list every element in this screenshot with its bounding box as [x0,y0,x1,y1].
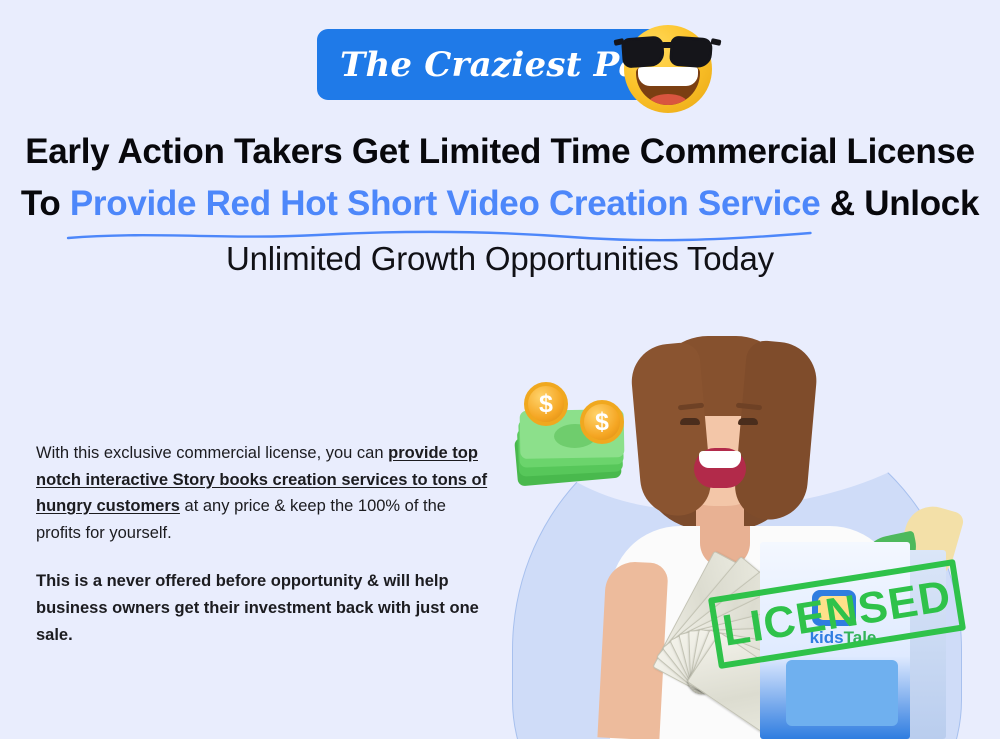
woman-eye-left [680,418,700,425]
craziest-part-badge: The Craziest Part... [0,29,1000,124]
headline-highlight-label: Provide Red Hot Short Video Creation Ser… [70,184,821,223]
hero-illustration: $ $ [500,330,1000,739]
headline-line-2-prefix: To [21,184,70,223]
emoji-sunglasses [616,33,720,69]
woman-teeth [699,451,741,468]
dollar-coin-icon: $ [524,382,568,426]
body-copy: With this exclusive commercial license, … [36,440,491,671]
wavy-underline-icon [64,229,815,243]
emoji-teeth [638,67,698,86]
paragraph-one-part-1: With this exclusive commercial license, … [36,444,388,462]
woman-hair-right [732,339,819,523]
headline-highlight-text: Provide Red Hot Short Video Creation Ser… [70,176,821,232]
headline-line-2: To Provide Red Hot Short Video Creation … [0,176,1000,232]
woman-eye-right [738,418,758,425]
product-box: kidsTale LICENSED [752,506,962,739]
emoji-tongue [648,94,688,105]
headline-line-1: Early Action Takers Get Limited Time Com… [0,128,1000,176]
headline-line-2-suffix: & Unlock [820,184,979,223]
woman-mouth [694,448,746,488]
paragraph-two: This is a never offered before opportuni… [36,568,491,649]
emoji-glasses-lens-left [621,36,665,69]
product-box-artwork [786,660,898,726]
woman-hair-left [629,341,714,518]
emoji-glasses-lens-right [669,36,713,69]
smiling-face-with-sunglasses-emoji [616,17,720,121]
page-headline: Early Action Takers Get Limited Time Com… [0,128,1000,286]
paragraph-one: With this exclusive commercial license, … [36,440,491,546]
